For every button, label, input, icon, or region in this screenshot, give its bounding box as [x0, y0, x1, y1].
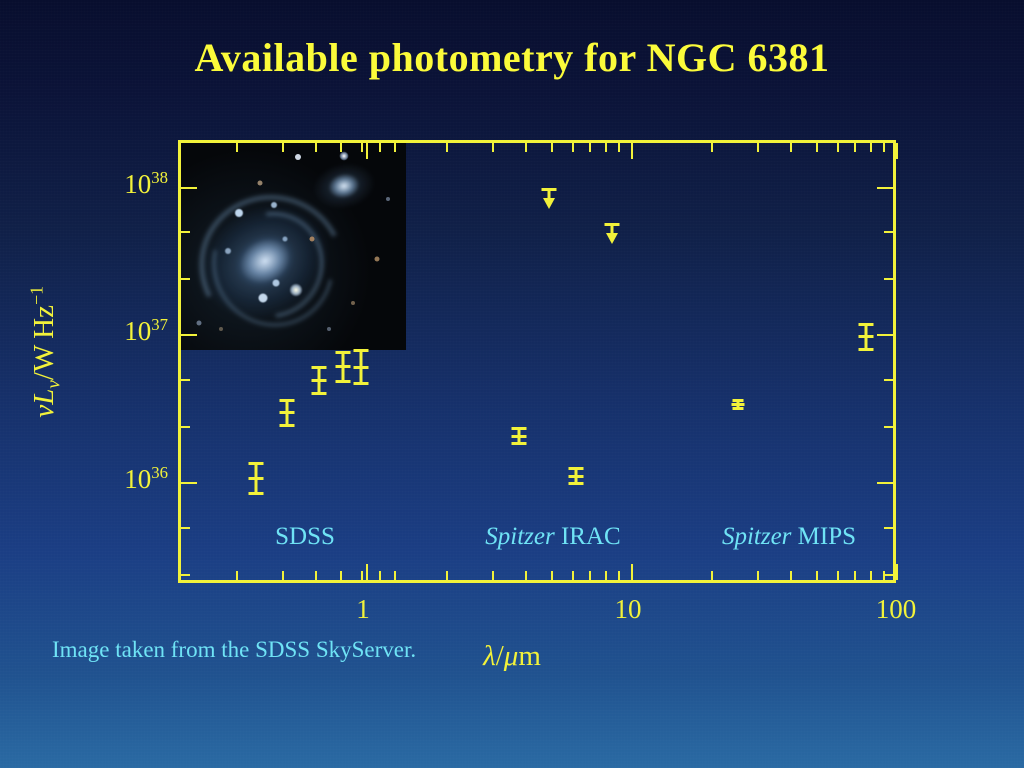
x-tick-top-minor [757, 143, 759, 152]
y-tick-major-1e37 [181, 334, 197, 336]
x-tick-minor [605, 571, 607, 580]
field-star [351, 301, 355, 305]
hii-knot [273, 280, 280, 287]
x-tick-minor [379, 571, 381, 580]
data-point-irac-5p8 [568, 467, 584, 485]
x-tick-top-minor [837, 143, 839, 152]
x-tick-top-major-10 [631, 143, 633, 159]
x-tick-top-minor [340, 143, 342, 152]
x-tick-top-minor [711, 143, 713, 152]
x-tick-label-10: 10 [615, 594, 642, 625]
x-tick-major-1 [366, 564, 368, 580]
x-tick-minor [816, 571, 818, 580]
x-tick-minor [854, 571, 856, 580]
data-point-sdss-u [248, 462, 264, 495]
x-tick-major-10 [631, 564, 633, 580]
x-tick-top-minor [236, 143, 238, 152]
bright-foreground-star [290, 284, 303, 297]
field-star [375, 257, 380, 262]
x-tick-top-minor [394, 143, 396, 152]
data-point-mips-70 [858, 323, 874, 351]
x-tick-minor [282, 571, 284, 580]
x-tick-minor [340, 571, 342, 580]
y-tick-minor [181, 379, 190, 381]
image-credit: Image taken from the SDSS SkyServer. [52, 637, 416, 663]
x-tick-major-100 [896, 564, 898, 580]
x-tick-top-minor [816, 143, 818, 152]
x-tick-minor [315, 571, 317, 580]
x-tick-minor [492, 571, 494, 580]
photometry-plot-frame [178, 140, 896, 583]
field-star [258, 181, 263, 186]
y-tick-right-minor [884, 379, 893, 381]
legend-mips-plain: MIPS [791, 523, 856, 550]
x-tick-top-minor [883, 143, 885, 152]
x-tick-top-minor [854, 143, 856, 152]
y-tick-right-minor [884, 574, 893, 576]
x-tick-minor [790, 571, 792, 580]
y-tick-right-major-1e36 [877, 482, 893, 484]
x-tick-top-minor [618, 143, 620, 152]
slide-canvas: Available photometry for NGC 6381 νLν/W … [0, 0, 1024, 768]
field-star [386, 197, 390, 201]
x-tick-top-minor [282, 143, 284, 152]
field-star [327, 327, 331, 331]
y-tick-major-1e36 [181, 482, 197, 484]
x-tick-top-minor [551, 143, 553, 152]
x-axis-m-symbol: m [518, 640, 541, 672]
legend-sdss-plain: SDSS [275, 523, 335, 550]
x-tick-minor [589, 571, 591, 580]
x-tick-minor [446, 571, 448, 580]
y-tick-minor [181, 426, 190, 428]
x-tick-minor [361, 571, 363, 580]
x-tick-top-minor [589, 143, 591, 152]
field-star [197, 321, 202, 326]
data-point-sdss-z [353, 349, 369, 385]
y-tick-minor [181, 574, 190, 576]
legend-mips-italic: Spitzer [722, 523, 791, 550]
x-axis-lambda-symbol: λ [483, 640, 496, 672]
x-tick-minor [757, 571, 759, 580]
y-tick-right-major-1e37 [877, 334, 893, 336]
hii-knot [225, 248, 231, 254]
x-tick-top-major-1 [366, 143, 368, 159]
legend-label-sdss: SDSS [275, 523, 335, 551]
x-tick-top-minor [605, 143, 607, 152]
x-axis-mu-symbol: μ [504, 640, 519, 672]
x-tick-top-minor [379, 143, 381, 152]
legend-label-spitzer-mips: Spitzer MIPS [722, 523, 856, 551]
x-tick-top-minor [870, 143, 872, 152]
x-axis-slash: / [496, 640, 504, 672]
x-tick-minor [870, 571, 872, 580]
x-tick-top-minor [315, 143, 317, 152]
x-tick-minor [525, 571, 527, 580]
hii-knot [271, 202, 277, 208]
x-tick-top-minor [492, 143, 494, 152]
legend-irac-italic: Spitzer [485, 523, 554, 550]
y-tick-right-major-1e38 [877, 187, 893, 189]
field-star [219, 327, 223, 331]
x-tick-minor [572, 571, 574, 580]
y-tick-label-1e38: 1038 [124, 168, 168, 200]
x-tick-minor [394, 571, 396, 580]
x-tick-top-minor [525, 143, 527, 152]
data-point-sdss-r [311, 366, 327, 395]
x-tick-minor [711, 571, 713, 580]
x-tick-label-1: 1 [356, 594, 370, 625]
field-star [310, 237, 315, 242]
sdss-galaxy-image [181, 143, 406, 350]
y-tick-right-minor [884, 527, 893, 529]
y-tick-minor [181, 278, 190, 280]
y-tick-major-1e38 [181, 187, 197, 189]
y-tick-minor [181, 527, 190, 529]
x-tick-label-100: 100 [876, 594, 917, 625]
upper-limit-irac-4p5 [541, 188, 557, 210]
x-tick-minor [551, 571, 553, 580]
field-star [340, 152, 349, 161]
data-point-irac-3p6 [511, 427, 527, 445]
x-tick-minor [618, 571, 620, 580]
y-tick-right-minor [884, 231, 893, 233]
y-tick-label-1e37: 1037 [124, 315, 168, 347]
hii-knot [235, 209, 243, 217]
x-tick-minor [837, 571, 839, 580]
x-tick-top-minor [446, 143, 448, 152]
legend-irac-plain: IRAC [555, 523, 621, 550]
x-tick-top-minor [572, 143, 574, 152]
field-star [295, 154, 301, 160]
y-tick-right-minor [884, 278, 893, 280]
data-point-sdss-i [335, 351, 351, 383]
y-tick-minor [181, 231, 190, 233]
upper-limit-irac-8p0 [604, 223, 620, 245]
hii-knot [259, 294, 268, 303]
x-tick-top-major-100 [896, 143, 898, 159]
legend-label-spitzer-irac: Spitzer IRAC [485, 523, 620, 551]
hii-knot [283, 237, 288, 242]
x-tick-top-minor [361, 143, 363, 152]
data-point-mips-24 [730, 399, 746, 410]
y-tick-right-minor [884, 426, 893, 428]
y-tick-label-1e36: 1036 [124, 463, 168, 495]
x-tick-top-minor [790, 143, 792, 152]
data-point-sdss-g [279, 399, 295, 427]
x-tick-minor [236, 571, 238, 580]
